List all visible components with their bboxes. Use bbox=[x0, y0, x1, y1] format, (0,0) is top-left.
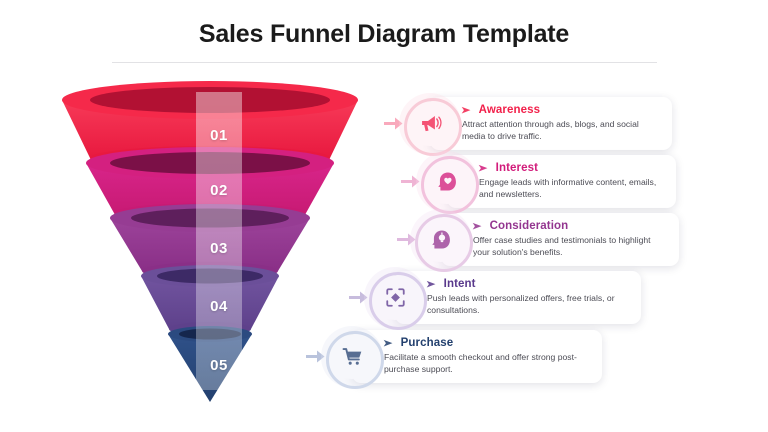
stage-card-awareness: ➤ Awareness Attract attention through ad… bbox=[430, 97, 672, 150]
chevron-marker-icon: ➤ bbox=[461, 106, 471, 115]
funnel-number-05: 05 bbox=[196, 357, 242, 374]
funnel-number-03: 03 bbox=[196, 240, 242, 257]
badge-ring bbox=[369, 272, 427, 330]
chevron-marker-icon: ➤ bbox=[472, 222, 482, 231]
stage-body-awareness: Attract attention through ads, blogs, an… bbox=[462, 118, 658, 142]
funnel-stage-row-awareness[interactable]: ➤ Awareness Attract attention through ad… bbox=[378, 97, 672, 150]
stage-body-purchase: Facilitate a smooth checkout and offer s… bbox=[384, 351, 588, 375]
stage-heading-text: Purchase bbox=[401, 337, 454, 349]
stage-card-consideration: ➤ Consideration Offer case studies and t… bbox=[441, 213, 679, 266]
badge-ring bbox=[326, 331, 384, 389]
chevron-marker-icon: ➤ bbox=[426, 280, 436, 289]
stage-heading-awareness: ➤ Awareness bbox=[462, 104, 658, 116]
stage-heading-text: Consideration bbox=[490, 220, 569, 232]
chevron-marker-icon: ➤ bbox=[383, 339, 393, 348]
funnel-number-02: 02 bbox=[196, 182, 242, 199]
badge-ring bbox=[421, 156, 479, 214]
funnel-stage-row-purchase[interactable]: ➤ Purchase Facilitate a smooth checkout … bbox=[300, 330, 602, 383]
stage-heading-text: Intent bbox=[444, 278, 476, 290]
badge-ring bbox=[415, 214, 473, 272]
stage-card-interest: ➤ Interest Engage leads with informative… bbox=[447, 155, 676, 208]
stage-badge-awareness bbox=[408, 102, 452, 146]
stage-heading-interest: ➤ Interest bbox=[479, 162, 662, 174]
funnel-stage-row-interest[interactable]: ➤ Interest Engage leads with informative… bbox=[395, 155, 676, 208]
stage-body-intent: Push leads with personalized offers, fre… bbox=[427, 292, 627, 316]
funnel-number-01: 01 bbox=[196, 127, 242, 144]
stage-body-consideration: Offer case studies and testimonials to h… bbox=[473, 234, 665, 258]
stage-card-purchase: ➤ Purchase Facilitate a smooth checkout … bbox=[352, 330, 602, 383]
stage-badge-intent bbox=[373, 276, 417, 320]
stage-heading-text: Awareness bbox=[479, 104, 540, 116]
funnel-number-04: 04 bbox=[196, 298, 242, 315]
stage-card-intent: ➤ Intent Push leads with personalized of… bbox=[395, 271, 641, 324]
stage-badge-purchase bbox=[330, 335, 374, 379]
stage-heading-consideration: ➤ Consideration bbox=[473, 220, 665, 232]
stage-badge-consideration bbox=[419, 218, 463, 262]
badge-ring bbox=[404, 98, 462, 156]
funnel-stage-row-consideration[interactable]: ➤ Consideration Offer case studies and t… bbox=[393, 213, 679, 266]
slide-canvas: Sales Funnel Diagram Template bbox=[0, 0, 768, 432]
stage-heading-purchase: ➤ Purchase bbox=[384, 337, 588, 349]
chevron-marker-icon: ➤ bbox=[478, 164, 488, 173]
stage-heading-intent: ➤ Intent bbox=[427, 278, 627, 290]
stage-heading-text: Interest bbox=[496, 162, 538, 174]
stage-badge-interest bbox=[425, 160, 469, 204]
stage-body-interest: Engage leads with informative content, e… bbox=[479, 176, 662, 200]
funnel-stage-row-intent[interactable]: ➤ Intent Push leads with personalized of… bbox=[343, 271, 641, 324]
